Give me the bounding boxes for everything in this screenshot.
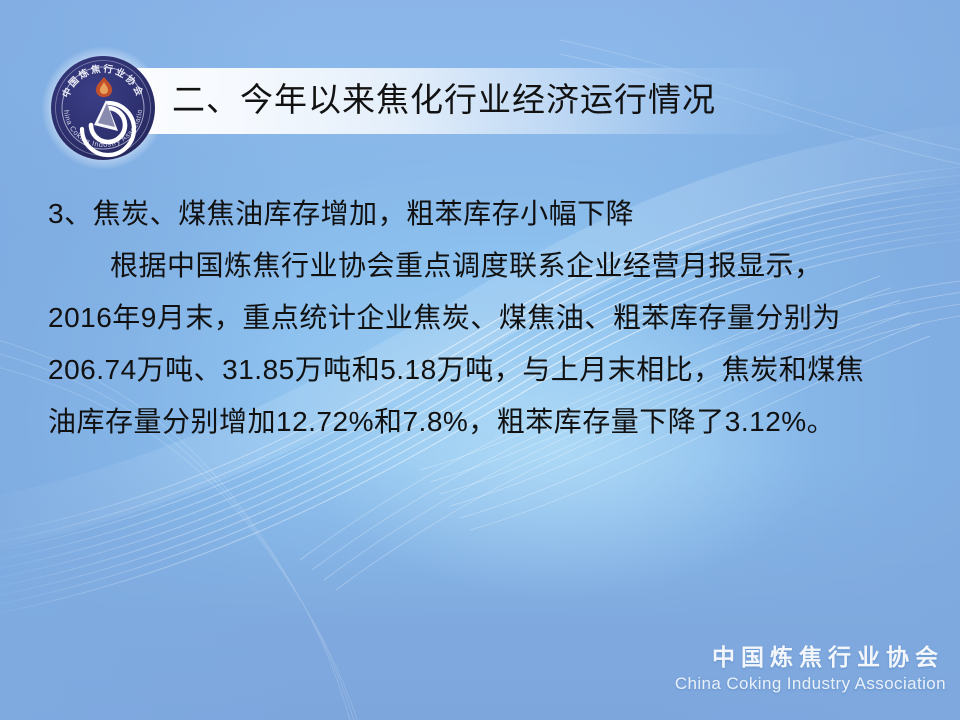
association-logo: 中国炼焦行业协会 China Coking Industry Associati… bbox=[50, 55, 156, 161]
body-paragraph-line: 根据中国炼焦行业协会重点调度联系企业经营月报显示， bbox=[48, 240, 918, 292]
footer-organization-en: China Coking Industry Association bbox=[626, 672, 946, 696]
slide-body: 3、焦炭、煤焦油库存增加，粗苯库存小幅下降 根据中国炼焦行业协会重点调度联系企业… bbox=[48, 188, 918, 448]
body-paragraph-line: 206.74万吨、31.85万吨和5.18万吨，与上月末相比，焦炭和煤焦 bbox=[48, 344, 918, 396]
section-title: 二、今年以来焦化行业经济运行情况 bbox=[172, 72, 812, 130]
footer-organization-cn: 中国炼焦行业协会 bbox=[626, 642, 946, 672]
body-paragraph-line: 油库存量分别增加12.72%和7.8%，粗苯库存量下降了3.12%。 bbox=[48, 396, 918, 448]
body-heading: 3、焦炭、煤焦油库存增加，粗苯库存小幅下降 bbox=[48, 188, 918, 240]
presentation-slide: 二、今年以来焦化行业经济运行情况 中国炼焦行业协会 bbox=[0, 0, 960, 720]
footer-brand: 中国炼焦行业协会 China Coking Industry Associati… bbox=[626, 642, 946, 696]
body-paragraph-line: 2016年9月末，重点统计企业焦炭、煤焦油、粗苯库存量分别为 bbox=[48, 292, 918, 344]
